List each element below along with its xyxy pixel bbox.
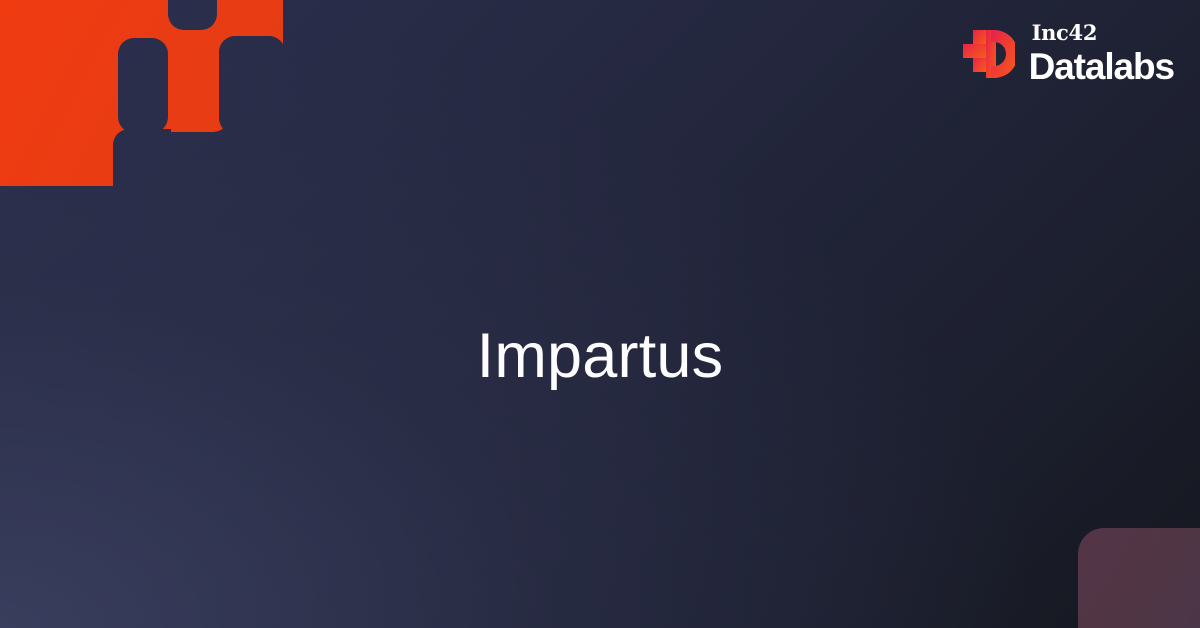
page-title: Impartus bbox=[0, 42, 1200, 628]
ornament-notch-b bbox=[168, 0, 217, 30]
share-card: Impartus Inc42 Datalabs bbox=[0, 0, 1200, 628]
brand-wordmark: Inc42 Datalabs bbox=[1029, 22, 1174, 85]
brand-logo: Inc42 Datalabs bbox=[963, 22, 1174, 85]
brand-inc42-text: Inc42 bbox=[1032, 22, 1098, 43]
inc42-datalabs-d-logo-icon bbox=[963, 24, 1015, 84]
brand-datalabs-text: Datalabs bbox=[1029, 48, 1174, 85]
